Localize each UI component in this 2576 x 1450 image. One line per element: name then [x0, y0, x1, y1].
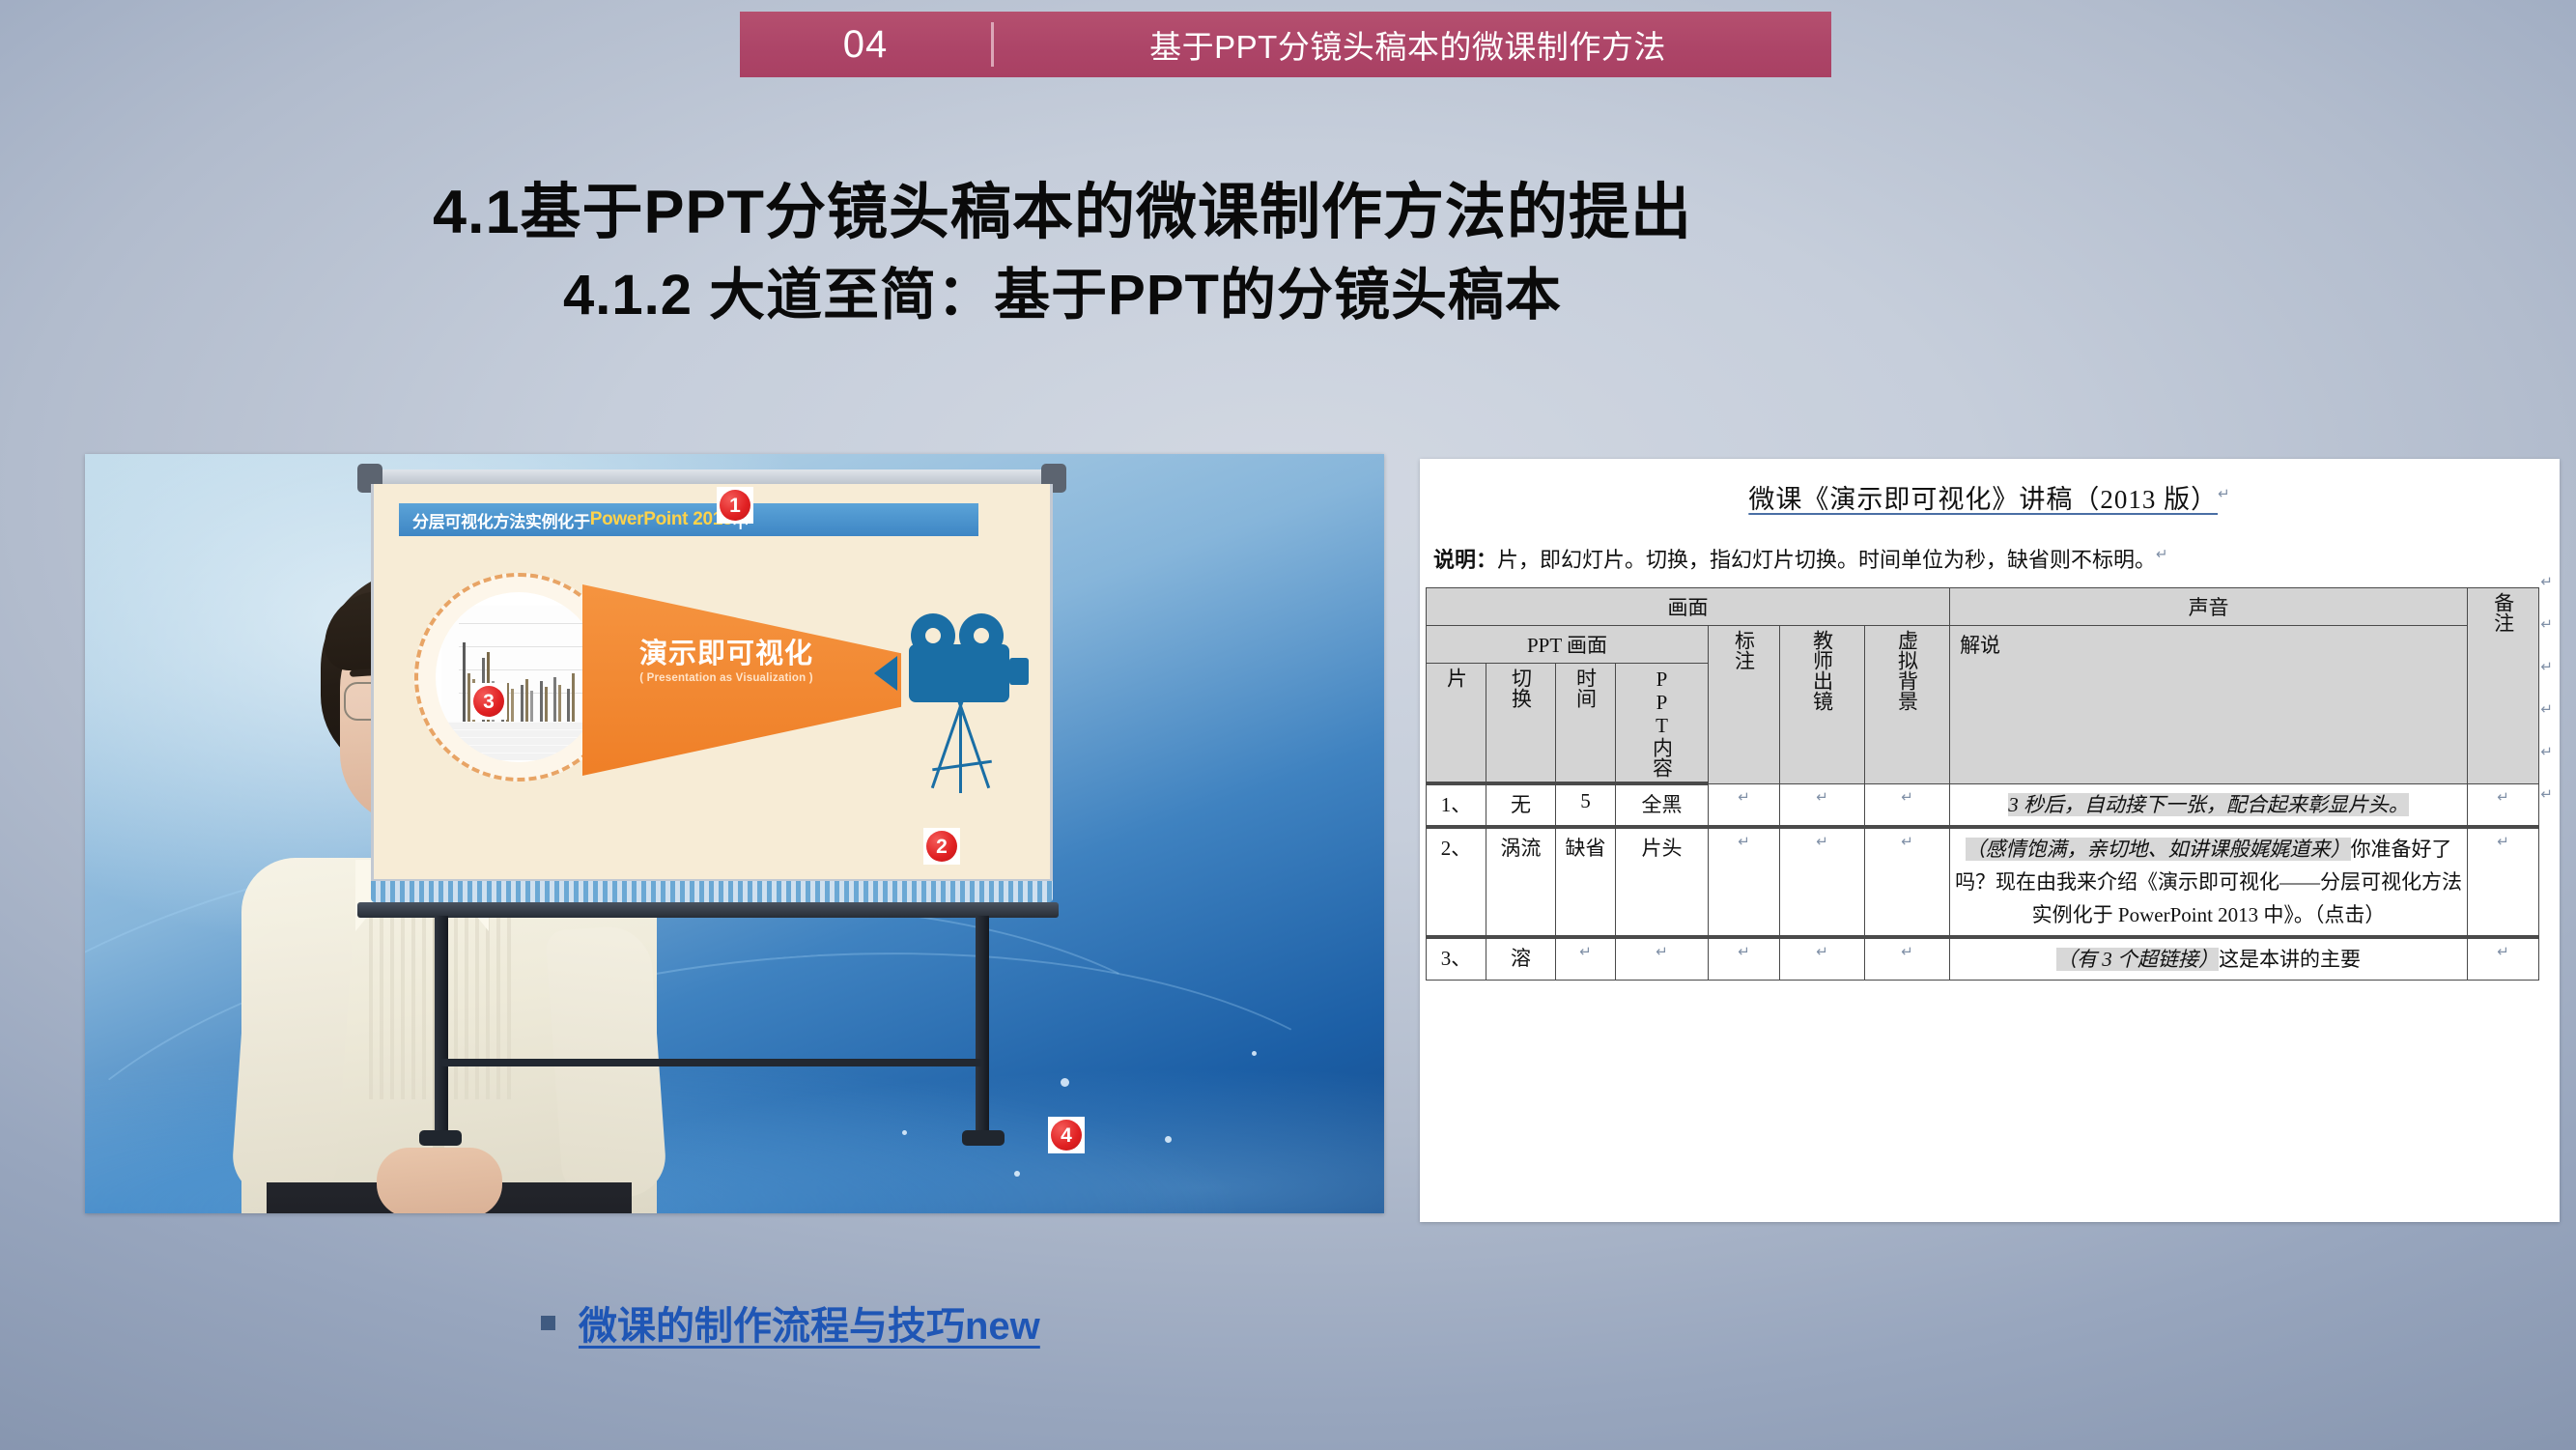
narration-plain: 这是本讲的主要 — [2219, 948, 2361, 971]
narration-highlight: 3 秒后，自动接下一张，配合起来彰显片头。 — [2008, 793, 2409, 816]
cell-shijian: ↵ — [1556, 937, 1616, 981]
cell-biaozhu: ↵ — [1709, 937, 1780, 981]
cell-jiaoshi: ↵ — [1780, 783, 1865, 827]
marker-number: 1 — [720, 490, 750, 521]
section-banner: 04 基于PPT分镜头稿本的微课制作方法 — [740, 12, 1831, 77]
cell-shijian: 缺省 — [1556, 827, 1616, 937]
cell-beizhu: ↵ — [2468, 783, 2539, 827]
screen-stand-bar — [357, 902, 1059, 918]
cell-pian: 1、 — [1427, 783, 1486, 827]
pilcrow-mark: ↵ — [2540, 615, 2553, 633]
cone-label-cn: 演示即可视化 — [615, 631, 837, 671]
header-pian-label: 片 — [1445, 668, 1466, 688]
cell-jiaoshi: ↵ — [1780, 827, 1865, 937]
oval-inner — [436, 592, 602, 762]
cell-beizhu: ↵ — [2468, 937, 2539, 981]
cell-shijian: 5 — [1556, 783, 1616, 827]
slide-title-line1: 4.1基于PPT分镜头稿本的微课制作方法的提出 — [0, 179, 2125, 247]
pilcrow-mark: ↵ — [2540, 743, 2553, 760]
header-jiaoshi-label: 教师出镜 — [1811, 630, 1832, 711]
microlesson-workflow-link[interactable]: 微课的制作流程与技巧new — [579, 1294, 1040, 1350]
cell-ppt: ↵ — [1616, 937, 1709, 981]
banner-divider — [991, 22, 994, 67]
sparkle — [1165, 1136, 1172, 1143]
annotation-marker-2: 2 — [923, 828, 960, 865]
annotation-marker-4: 4 — [1048, 1117, 1085, 1153]
video-preview-panel[interactable]: 分层可视化方法实例化于 PowerPoint 2013 中 — [85, 454, 1384, 1213]
leaf-header-qiehuan: 切换 — [1486, 664, 1556, 784]
document-note: 说明：片，即幻灯片。切换，指幻灯片切换。时间单位为秒，缺省则不标明。↵ — [1433, 543, 2560, 574]
cell-ppt: 片头 — [1616, 827, 1709, 937]
movie-camera-icon — [895, 592, 1040, 795]
cell-ppt: 全黑 — [1616, 783, 1709, 827]
sub-header-biaozhu: 标注 — [1709, 626, 1780, 784]
cell-narration: （感情饱满，亲切地、如讲课般娓娓道来）你准备好了吗？现在由我来介绍《演示即可视化… — [1950, 827, 2468, 937]
paragraph-marks-gutter: ↵ ↵ ↵ ↵ ↵ ↵ — [2540, 573, 2553, 803]
cell-biaozhu: ↵ — [1709, 783, 1780, 827]
pilcrow-mark: ↵ — [2540, 785, 2553, 803]
sub-header-jieshuo: 解说 — [1950, 626, 2468, 784]
header-biaozhu-label: 标注 — [1733, 630, 1754, 670]
cell-qiehuan: 溶 — [1486, 937, 1556, 981]
group-header-notes: 备注 — [2468, 588, 2539, 784]
header-shijian-label: 时间 — [1574, 668, 1596, 708]
projected-title-emphasis: PowerPoint 2013 — [590, 509, 733, 530]
footer-link-row[interactable]: 微课的制作流程与技巧new — [541, 1294, 1040, 1350]
table-row: 2、 涡流 缺省 片头 ↵ ↵ ↵ （感情饱满，亲切地、如讲课般娓娓道来）你准备… — [1427, 827, 2539, 937]
camera-side-box — [1009, 658, 1029, 685]
cone-label-group: 演示即可视化 ( Presentation as Visualization ) — [615, 631, 837, 684]
projected-title-cn: 分层可视化方法实例化于 — [412, 508, 590, 532]
marker-number: 2 — [926, 831, 957, 862]
document-title: 微课《演示即可视化》讲稿（2013 版） — [1748, 485, 2218, 514]
screen-stand-crossbar — [440, 1059, 981, 1066]
narration-highlight: （感情饱满，亲切地、如讲课般娓娓道来） — [1966, 838, 2351, 861]
tripod-leg — [959, 700, 962, 793]
presenter-arm-left — [230, 924, 353, 1202]
cell-qiehuan: 涡流 — [1486, 827, 1556, 937]
group-header-sound: 声音 — [1950, 588, 2468, 626]
screen-stand-foot — [962, 1130, 1005, 1146]
annotation-marker-3: 3 — [470, 683, 507, 720]
sparkle — [1252, 1051, 1257, 1056]
mini-bar-chart — [441, 606, 596, 727]
header-ppt-label: PPT内容 — [1651, 668, 1672, 778]
group-header-picture: 画面 — [1427, 588, 1950, 626]
table-row: 3、 溶 ↵ ↵ ↵ ↵ ↵ （有 3 个超链接）这是本讲的主要 ↵ — [1427, 937, 2539, 981]
cell-xuni: ↵ — [1865, 783, 1950, 827]
table-group-header-row: 画面 声音 备注 — [1427, 588, 2539, 626]
screen-stand-foot — [419, 1130, 462, 1146]
cell-pian: 2、 — [1427, 827, 1486, 937]
mini-data-table — [441, 722, 596, 760]
cell-biaozhu: ↵ — [1709, 827, 1780, 937]
narration-highlight: （有 3 个超链接） — [2056, 948, 2219, 971]
marker-number: 4 — [1051, 1120, 1082, 1151]
cell-xuni: ↵ — [1865, 827, 1950, 937]
sub-header-xuni: 虚拟背景 — [1865, 626, 1950, 784]
section-title: 基于PPT分镜头稿本的微课制作方法 — [994, 21, 1831, 68]
pilcrow-mark: ↵ — [2218, 485, 2231, 502]
cell-beizhu: ↵ — [2468, 827, 2539, 937]
pilcrow-mark: ↵ — [2540, 658, 2553, 675]
header-beizhu-label: 备注 — [2493, 592, 2514, 633]
camera-body — [909, 644, 1009, 702]
projected-slide-title-bar: 分层可视化方法实例化于 PowerPoint 2013 中 — [399, 503, 978, 536]
cell-narration: 3 秒后，自动接下一张，配合起来彰显片头。 — [1950, 783, 2468, 827]
screen-stand-leg — [976, 916, 989, 1134]
bullet-square-icon — [541, 1316, 555, 1330]
header-qiehuan-label: 切换 — [1510, 668, 1531, 708]
table-row: 1、 无 5 全黑 ↵ ↵ ↵ 3 秒后，自动接下一张，配合起来彰显片头。 ↵ — [1427, 783, 2539, 827]
leaf-header-pptneirong: PPT内容 — [1616, 664, 1709, 784]
annotation-marker-1: 1 — [717, 487, 753, 524]
pilcrow-mark: ↵ — [2540, 573, 2553, 590]
marker-number: 3 — [473, 686, 504, 717]
shot-script-table: 画面 声音 备注 PPT 画面 标注 教师出镜 虚拟背景 解说 片 切换 — [1426, 587, 2539, 981]
pilcrow-mark: ↵ — [2156, 546, 2168, 563]
header-xuni-label: 虚拟背景 — [1897, 630, 1918, 711]
section-number: 04 — [740, 23, 991, 67]
table-sub-header-row: PPT 画面 标注 教师出镜 虚拟背景 解说 — [1427, 626, 2539, 664]
note-text: 片，即幻灯片。切换，指幻灯片切换。时间单位为秒，缺省则不标明。 — [1497, 548, 2156, 572]
cell-qiehuan: 无 — [1486, 783, 1556, 827]
tripod-leg — [957, 700, 990, 789]
pilcrow-mark: ↵ — [2540, 700, 2553, 718]
leaf-header-pian: 片 — [1427, 664, 1486, 784]
camera-lens — [874, 656, 897, 691]
leaf-header-shijian: 时间 — [1556, 664, 1616, 784]
document-title-row: 微课《演示即可视化》讲稿（2013 版）↵ — [1420, 478, 2560, 516]
cell-pian: 3、 — [1427, 937, 1486, 981]
note-label: 说明： — [1433, 548, 1497, 572]
slide-heading-group: 4.1基于PPT分镜头稿本的微课制作方法的提出 4.1.2 大道至简：基于PPT… — [0, 179, 2125, 330]
sub-header-jiaoshi: 教师出镜 — [1780, 626, 1865, 784]
slide-title-line2: 4.1.2 大道至简：基于PPT的分镜头稿本 — [0, 261, 2125, 331]
script-document-panel[interactable]: 微课《演示即可视化》讲稿（2013 版）↵ 说明：片，即幻灯片。切换，指幻灯片切… — [1420, 459, 2560, 1222]
sub-header-ppt-picture: PPT 画面 — [1427, 626, 1709, 664]
cell-xuni: ↵ — [1865, 937, 1950, 981]
cone-label-en: ( Presentation as Visualization ) — [615, 672, 837, 684]
screen-stand-leg — [435, 916, 448, 1134]
screen-fringe — [371, 881, 1053, 902]
cell-jiaoshi: ↵ — [1780, 937, 1865, 981]
cell-narration: （有 3 个超链接）这是本讲的主要 — [1950, 937, 2468, 981]
